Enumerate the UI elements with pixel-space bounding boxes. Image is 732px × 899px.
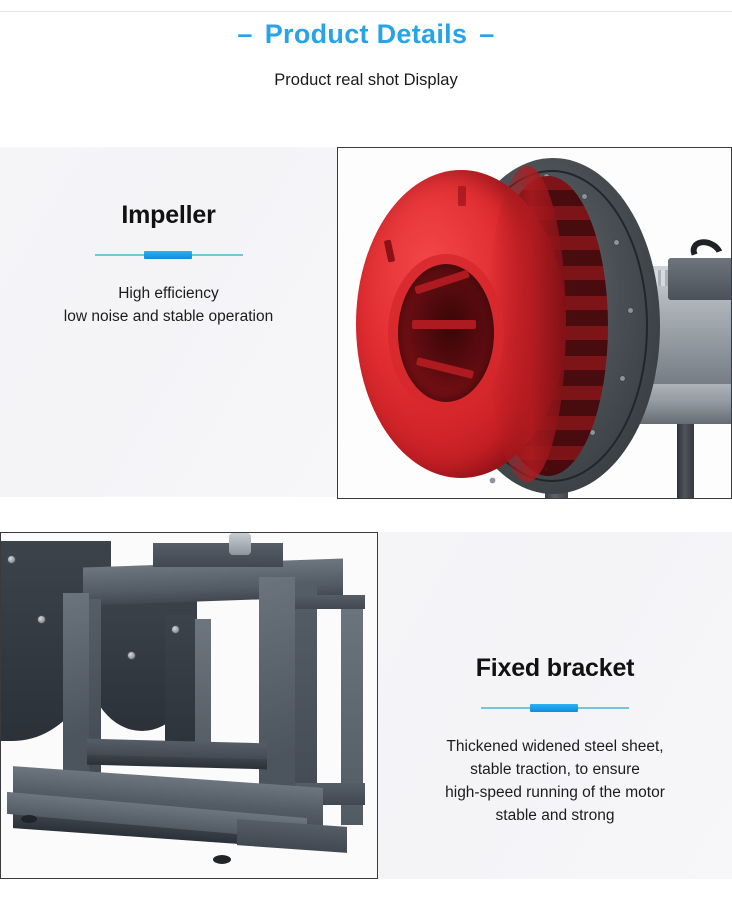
fixed-bracket-body-line-2: stable traction, to ensure — [378, 758, 732, 781]
divider-center-bar — [530, 704, 578, 712]
impeller-blade — [412, 320, 476, 329]
impeller-text-card: Impeller High efficiency low noise and s… — [0, 147, 337, 497]
page-header: –Product Details– Product real shot Disp… — [0, 16, 732, 91]
motor-mount-plate — [153, 543, 283, 567]
fixed-bracket-divider — [481, 703, 629, 713]
impeller-heading: Impeller — [0, 199, 337, 231]
fixed-bracket-text-card: Fixed bracket Thickened widened steel sh… — [378, 532, 732, 879]
page-subtitle: Product real shot Display — [0, 69, 732, 91]
impeller-blade — [416, 357, 474, 379]
drum-screw — [127, 651, 136, 660]
title-dash-left-icon: – — [237, 16, 252, 52]
fixed-bracket-body-line-1: Thickened widened steel sheet, — [378, 735, 732, 758]
page-bottom-spacer — [0, 879, 732, 899]
post-screw — [171, 625, 180, 634]
section-fixed-bracket: Fixed bracket Thickened widened steel sh… — [0, 532, 732, 879]
impeller-photo — [337, 147, 732, 499]
fixed-bracket-photo — [0, 532, 378, 879]
page-title-text: Product Details — [265, 19, 468, 49]
impeller-body: High efficiency low noise and stable ope… — [0, 282, 337, 328]
impeller-body-line-1: High efficiency — [0, 282, 337, 305]
impeller-blade — [414, 270, 470, 295]
fixed-bracket-body: Thickened widened steel sheet, stable tr… — [378, 735, 732, 827]
impeller-balance-slot — [458, 186, 466, 206]
title-dash-right-icon: – — [479, 16, 494, 52]
housing-bolt — [614, 240, 619, 245]
housing-bolt — [490, 478, 495, 483]
housing-bolt — [582, 194, 587, 199]
impeller-photo-canvas — [338, 148, 731, 498]
housing-bolt — [628, 308, 633, 313]
impeller-inlet-cone — [398, 264, 494, 402]
anchor-hole — [21, 815, 37, 823]
bracket-photo-canvas — [1, 533, 377, 878]
impeller-shroud-edge — [488, 166, 566, 482]
fixed-bracket-body-line-3: high-speed running of the motor — [378, 781, 732, 804]
anchor-hole — [213, 855, 231, 864]
impeller-body-line-2: low noise and stable operation — [0, 305, 337, 328]
casing-screw — [7, 555, 16, 564]
mount-bolt-head — [229, 533, 251, 555]
impeller-divider — [95, 250, 243, 260]
page-title: –Product Details– — [0, 16, 732, 52]
section-impeller: Impeller High efficiency low noise and s… — [0, 147, 732, 497]
divider-center-bar — [144, 251, 192, 259]
casing-screw — [37, 615, 46, 624]
fixed-bracket-body-line-4: stable and strong — [378, 804, 732, 827]
page-top-divider — [0, 11, 732, 12]
bracket-right-foot — [237, 819, 347, 853]
bracket-right-upper-rail — [295, 595, 365, 609]
fixed-bracket-heading: Fixed bracket — [378, 652, 732, 684]
housing-bolt — [620, 376, 625, 381]
bracket-left-leg — [63, 593, 89, 793]
